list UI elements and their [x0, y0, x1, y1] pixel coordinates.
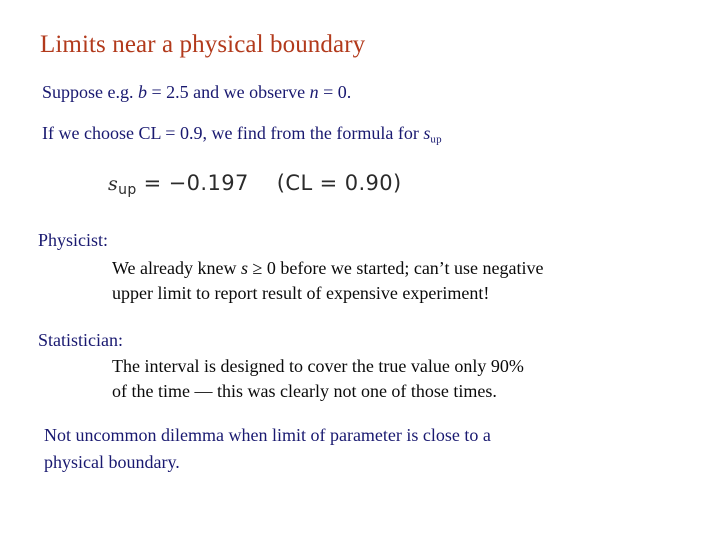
formula-block: sup = −0.197(CL = 0.90): [108, 168, 402, 205]
slide-title: Limits near a physical boundary: [40, 30, 365, 60]
intro-line-2-subscript-up: up: [430, 134, 441, 146]
statistician-body: The interval is designed to cover the tr…: [112, 354, 698, 404]
statistician-body-line-1: The interval is designed to cover the tr…: [112, 354, 698, 379]
physicist-line-1-variable-s: s: [241, 258, 248, 278]
closing-line-2: physical boundary.: [44, 449, 664, 476]
physicist-line-1-text-b: ≥ 0 before we started; can’t use negativ…: [248, 258, 543, 278]
physicist-body-line-1: We already knew s ≥ 0 before we started;…: [112, 256, 698, 281]
closing-paragraph: Not uncommon dilemma when limit of param…: [44, 422, 664, 476]
formula-symbol-s: s: [108, 173, 118, 195]
intro-line-1-variable-b: b: [138, 82, 147, 102]
formula-condition: (CL = 0.90): [277, 171, 402, 195]
statistician-body-line-2: of the time — this was clearly not one o…: [112, 379, 698, 404]
intro-line-1: Suppose e.g. b = 2.5 and we observe n = …: [42, 80, 351, 104]
closing-line-1: Not uncommon dilemma when limit of param…: [44, 422, 664, 449]
physicist-line-1-text-a: We already knew: [112, 258, 241, 278]
formula-subscript-up: up: [118, 182, 136, 198]
physicist-body-line-2: upper limit to report result of expensiv…: [112, 281, 698, 306]
physicist-body: We already knew s ≥ 0 before we started;…: [112, 256, 698, 306]
intro-line-2: If we choose CL = 0.9, we find from the …: [42, 121, 442, 152]
intro-line-1-variable-n: n: [310, 82, 319, 102]
intro-line-2-text-a: If we choose CL = 0.9, we find from the …: [42, 123, 423, 143]
intro-line-1-text-a: Suppose e.g.: [42, 82, 138, 102]
intro-line-1-text-c: = 0.: [319, 82, 352, 102]
statistician-heading: Statistician:: [38, 328, 123, 352]
slide-canvas: Limits near a physical boundary Suppose …: [0, 0, 720, 540]
intro-line-1-text-b: = 2.5 and we observe: [147, 82, 310, 102]
formula-value: = −0.197: [137, 171, 249, 195]
physicist-heading: Physicist:: [38, 228, 108, 252]
